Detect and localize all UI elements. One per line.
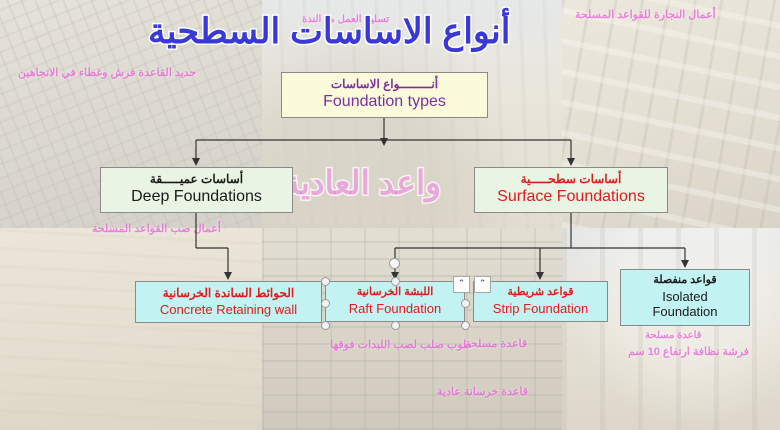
node-deep-foundations-arabic: أساسات عميـــــقة bbox=[109, 172, 284, 186]
node-raft-foundation[interactable]: اللبشة الخرسانية Raft Foundation bbox=[325, 281, 465, 322]
decorative-ghost-headline: واعد العادية bbox=[283, 163, 441, 202]
node-deep-foundations[interactable]: أساسات عميـــــقة Deep Foundations bbox=[100, 167, 293, 213]
watermark-blinding-layer: فرشة نظافة ارتفاع 10 سم bbox=[628, 345, 749, 358]
selection-handle-bottom-left[interactable] bbox=[321, 321, 330, 330]
node-deep-foundations-english: Deep Foundations bbox=[109, 188, 284, 207]
node-isolated-foundation[interactable]: قواعد منفصلة Isolated Foundation bbox=[620, 269, 750, 326]
node-surface-foundations-english: Surface Foundations bbox=[483, 188, 659, 207]
node-concrete-retaining-wall-arabic: الحوائط الساندة الخرسانية bbox=[144, 286, 313, 300]
watermark-reinforced-footing-top: قاعدة مسلحة bbox=[465, 337, 527, 350]
selection-handle-bottom-center[interactable] bbox=[391, 321, 400, 330]
paste-options-button-raft[interactable]: ⌃ bbox=[453, 276, 470, 293]
selection-handle-bottom-right[interactable] bbox=[461, 321, 470, 330]
presentation-slide: أعمال النجارة للقواعد المسلحة تسليم العم… bbox=[0, 0, 780, 430]
selection-handle-top-center[interactable] bbox=[391, 277, 400, 286]
node-strip-foundation[interactable]: قواعد شريطية Strip Foundation bbox=[473, 281, 608, 322]
watermark-plain-concrete-footing: قاعدة خرسانة عادية bbox=[437, 385, 528, 398]
watermark-solid-brick: طوب صلب لصب اللبدات فوقها bbox=[330, 338, 472, 351]
node-surface-foundations[interactable]: أساسات سطحـــــية Surface Foundations bbox=[474, 167, 668, 213]
watermark-reinforced-footing-right: قاعدة مسلحة bbox=[645, 330, 701, 341]
selection-handle-middle-right[interactable] bbox=[461, 299, 470, 308]
watermark-casting: أعمال صب القواعد المسلحة bbox=[92, 222, 221, 235]
node-surface-foundations-arabic: أساسات سطحـــــية bbox=[483, 172, 659, 186]
selection-handle-top-left[interactable] bbox=[321, 277, 330, 286]
node-concrete-retaining-wall[interactable]: الحوائط الساندة الخرسانية Concrete Retai… bbox=[135, 281, 322, 323]
node-isolated-foundation-english: Isolated Foundation bbox=[629, 289, 741, 320]
node-strip-foundation-arabic: قواعد شريطية bbox=[482, 286, 599, 299]
watermark-rebar-mesh: حديد القاعدة فرش وغطاء في الاتجاهين bbox=[18, 66, 196, 79]
rotation-handle[interactable] bbox=[389, 258, 400, 269]
node-foundation-types-arabic: أنـــــــــواع الاساسات bbox=[290, 77, 479, 91]
node-raft-foundation-arabic: اللبشة الخرسانية bbox=[334, 286, 456, 299]
paste-options-button-strip[interactable]: ⌃ bbox=[474, 276, 491, 293]
watermark-carpentry: أعمال النجارة للقواعد المسلحة bbox=[575, 8, 716, 21]
node-concrete-retaining-wall-english: Concrete Retaining wall bbox=[144, 302, 313, 317]
selection-handle-middle-left[interactable] bbox=[321, 299, 330, 308]
node-foundation-types-english: Foundation types bbox=[290, 93, 479, 112]
background-washout-overlay bbox=[0, 0, 780, 430]
slide-title: أنواع الاساسات السطحية bbox=[148, 12, 510, 52]
node-foundation-types[interactable]: أنـــــــــواع الاساسات Foundation types bbox=[281, 72, 488, 118]
node-strip-foundation-english: Strip Foundation bbox=[482, 301, 599, 316]
node-raft-foundation-english: Raft Foundation bbox=[334, 301, 456, 316]
node-isolated-foundation-arabic: قواعد منفصلة bbox=[629, 274, 741, 287]
